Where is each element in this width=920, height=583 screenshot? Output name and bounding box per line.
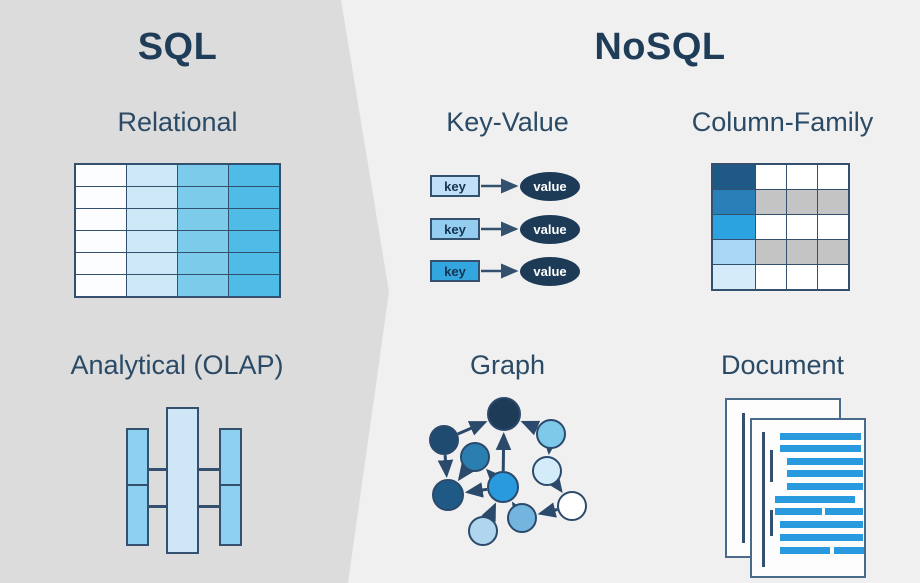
diagram-canvas: SQL NoSQL Relational Analytical (OLAP) K… [0,0,920,583]
document-text-line [780,547,830,554]
document-text-line [787,483,827,490]
document-text-line [817,534,863,541]
document-text-line [780,521,827,528]
document-text-line [815,496,855,503]
document-back-rule [742,413,745,543]
document-text-line [826,445,861,452]
document-text-line [823,458,863,465]
document-text-line [821,521,863,528]
document-text-line [780,534,820,541]
document-text-line [825,508,863,515]
document-front-rule-low [770,510,773,536]
document-text-line [834,547,864,554]
document-pages-icon [0,0,920,583]
document-text-line [814,470,863,477]
document-front-rule-mid [770,450,773,482]
document-text-line [780,433,823,440]
document-front-rule-long [762,432,765,567]
document-text-line [775,508,822,515]
document-text-line [821,433,861,440]
document-text-line [775,496,819,503]
document-text-line [823,483,863,490]
